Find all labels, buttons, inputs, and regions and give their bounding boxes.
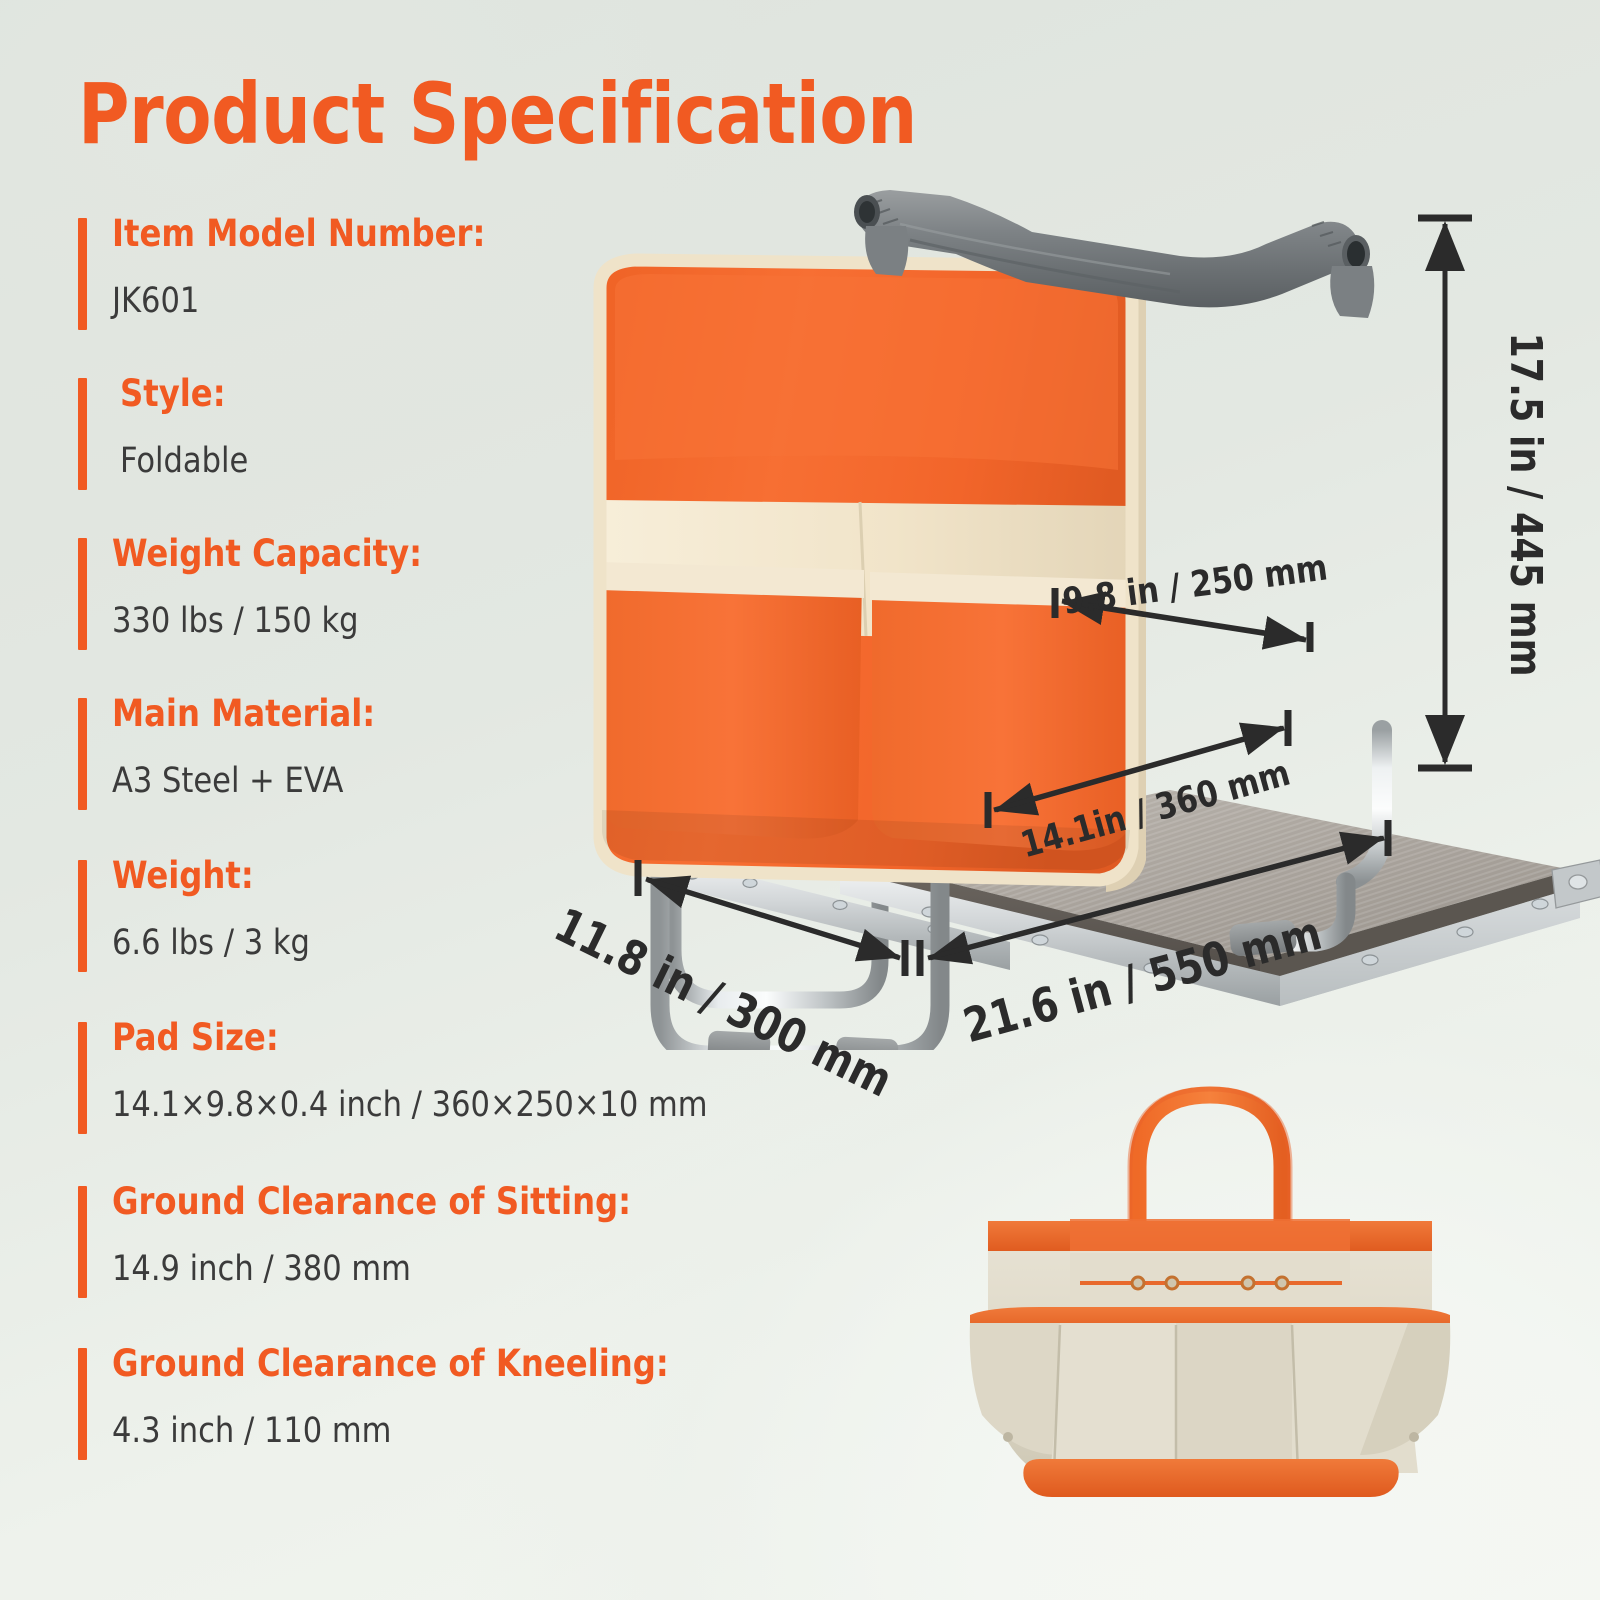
dim-label-height: 17.5 in / 445 mm (1500, 332, 1551, 676)
tote-handles (1138, 1095, 1282, 1227)
dim-line-height (1418, 218, 1472, 768)
tote-front-pockets (970, 1323, 1451, 1473)
product-illustration-tote-bag (930, 1055, 1490, 1525)
